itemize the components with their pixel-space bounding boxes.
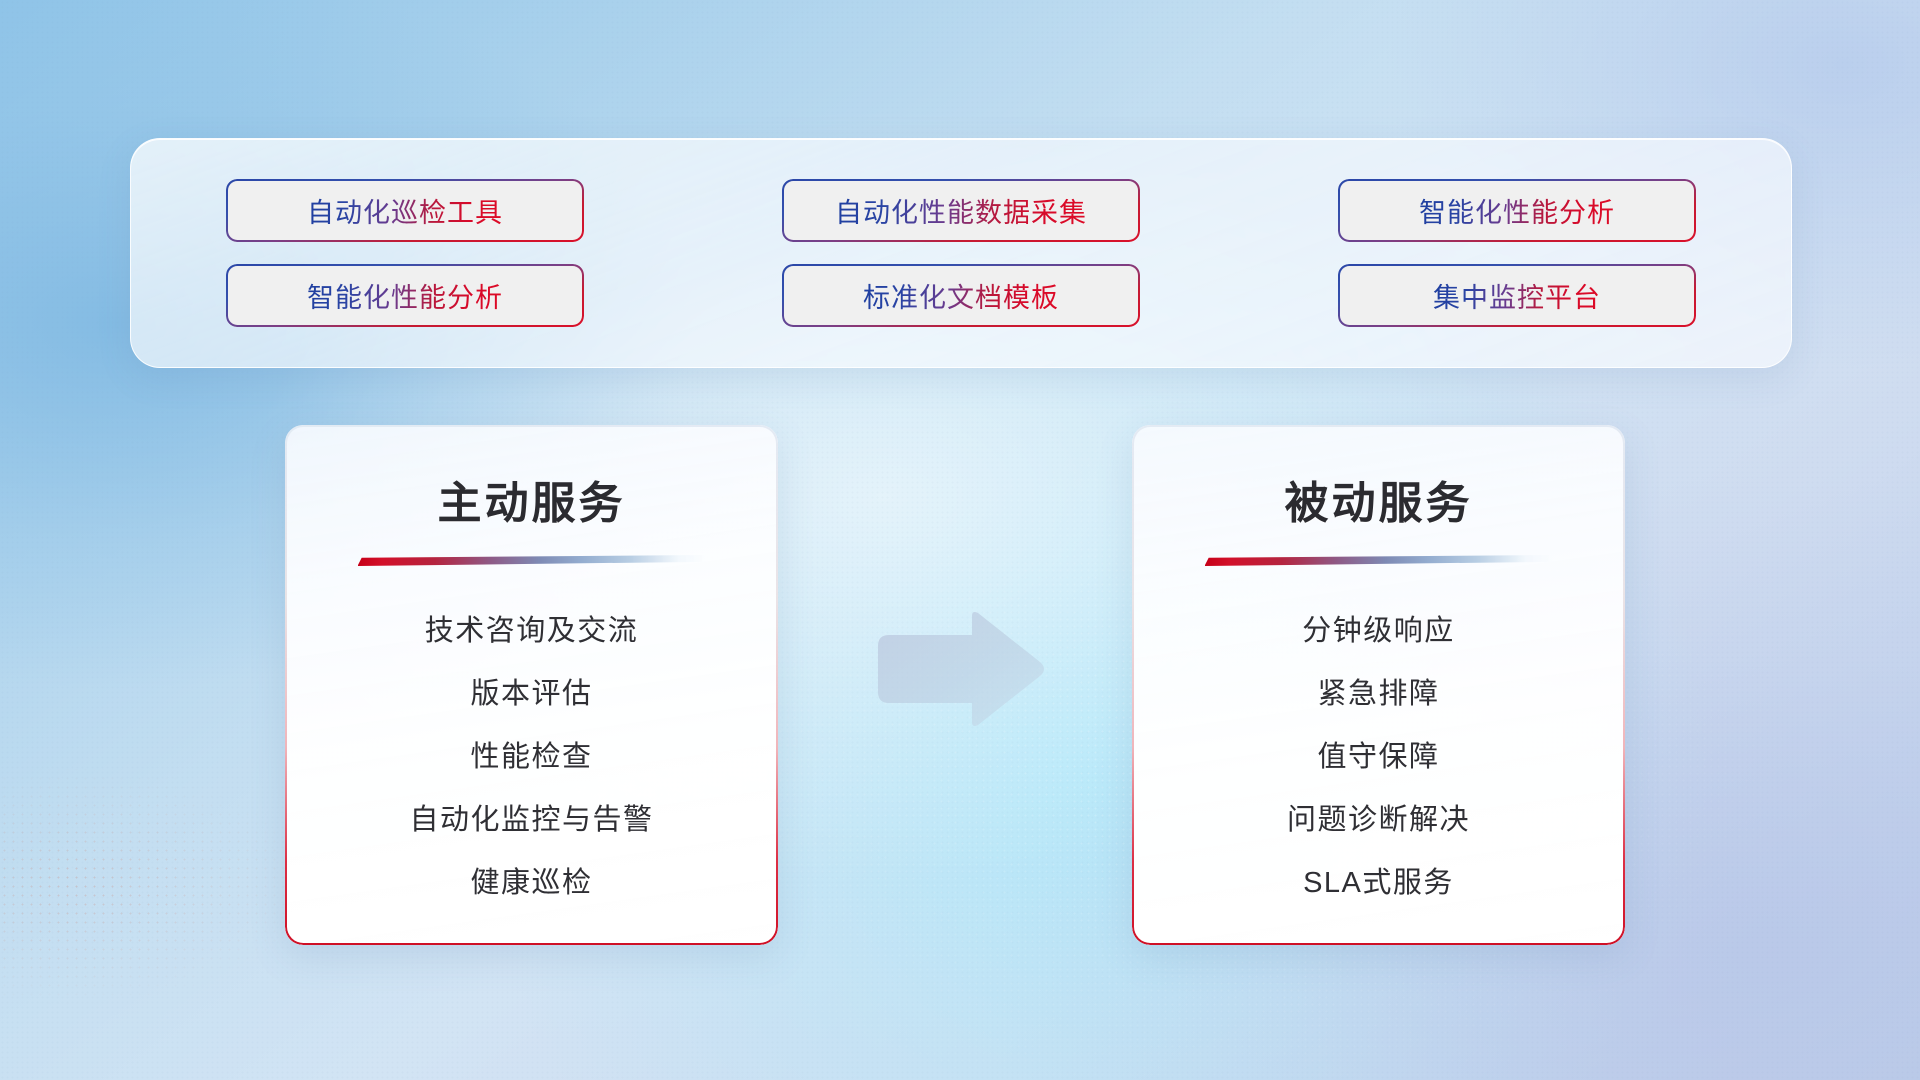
- service-card-reactive: 被动服务 分钟级响应 紧急排障 值守保障 问题诊断解决 SLA式服务: [1132, 425, 1625, 945]
- list-item: 问题诊断解决: [1132, 789, 1625, 852]
- capability-chip-automated-inspection-tool[interactable]: 自动化巡检工具: [226, 179, 584, 242]
- card-title: 被动服务: [1132, 467, 1625, 531]
- capability-chip-label: 智能化性能分析: [307, 276, 503, 315]
- list-item: 性能检查: [285, 726, 778, 789]
- capability-chip-label: 自动化巡检工具: [307, 191, 503, 230]
- capability-chip-label: 集中监控平台: [1433, 276, 1601, 315]
- capability-chip-automated-performance-data-collection[interactable]: 自动化性能数据采集: [782, 179, 1140, 242]
- card-title: 主动服务: [285, 467, 778, 531]
- list-item: 版本评估: [285, 663, 778, 726]
- capability-chip-label: 自动化性能数据采集: [835, 191, 1087, 230]
- capability-row-1: 自动化巡检工具 自动化性能数据采集 智能化性能分析: [226, 179, 1696, 242]
- capability-chip-intelligent-performance-analysis[interactable]: 智能化性能分析: [1338, 179, 1696, 242]
- list-item: SLA式服务: [1132, 852, 1625, 915]
- capability-row-2: 智能化性能分析 标准化文档模板 集中监控平台: [226, 264, 1696, 327]
- service-card-proactive: 主动服务 技术咨询及交流 版本评估 性能检查 自动化监控与告警 健康巡检: [285, 425, 778, 945]
- card-title-divider: [358, 555, 706, 566]
- list-item: 技术咨询及交流: [285, 600, 778, 663]
- capability-chip-standardized-document-template[interactable]: 标准化文档模板: [782, 264, 1140, 327]
- arrow-right-icon: [872, 610, 1048, 728]
- list-item: 健康巡检: [285, 852, 778, 915]
- capability-chip-label: 智能化性能分析: [1419, 191, 1615, 230]
- card-item-list: 技术咨询及交流 版本评估 性能检查 自动化监控与告警 健康巡检: [285, 600, 778, 915]
- list-item: 分钟级响应: [1132, 600, 1625, 663]
- capability-panel: 自动化巡检工具 自动化性能数据采集 智能化性能分析 智能化性能分析 标准化文档模…: [130, 138, 1792, 368]
- capability-chip-label: 标准化文档模板: [863, 276, 1059, 315]
- list-item: 自动化监控与告警: [285, 789, 778, 852]
- list-item: 值守保障: [1132, 726, 1625, 789]
- card-title-divider: [1205, 555, 1553, 566]
- capability-chip-intelligent-performance-analysis-2[interactable]: 智能化性能分析: [226, 264, 584, 327]
- capability-chip-centralized-monitoring-platform[interactable]: 集中监控平台: [1338, 264, 1696, 327]
- card-item-list: 分钟级响应 紧急排障 值守保障 问题诊断解决 SLA式服务: [1132, 600, 1625, 915]
- list-item: 紧急排障: [1132, 663, 1625, 726]
